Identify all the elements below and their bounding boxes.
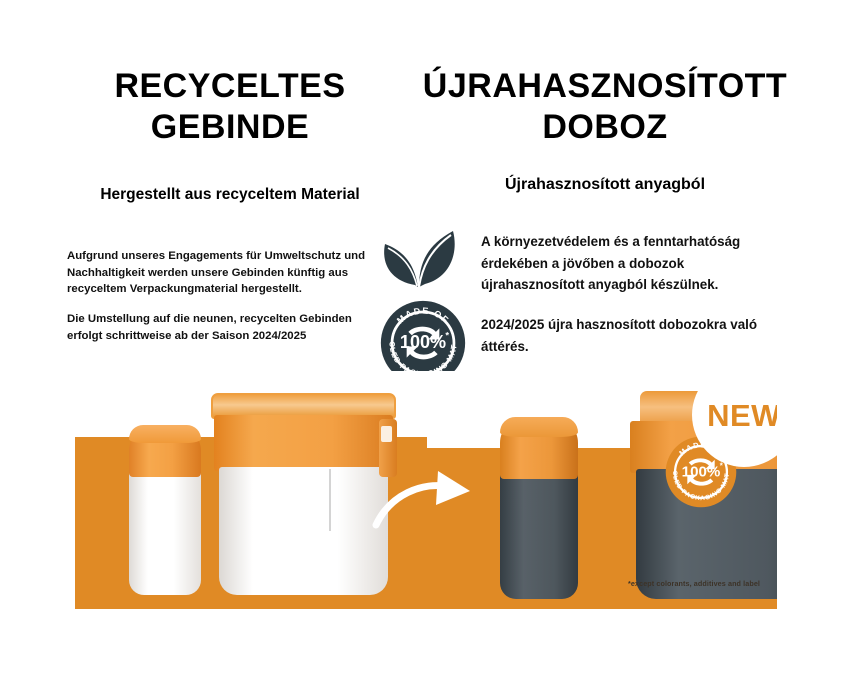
white-box-seam bbox=[329, 469, 331, 531]
left-heading-line2: GEBINDE bbox=[60, 107, 400, 148]
right-paragraph-2: 2024/2025 újra hasznosított dobozokra va… bbox=[481, 314, 771, 357]
white-bottle-product bbox=[129, 425, 201, 595]
leaf-icon bbox=[381, 226, 459, 288]
badge-asterisk: * bbox=[445, 331, 449, 342]
left-paragraph-2: Die Umstellung auf die neunen, recycelte… bbox=[67, 311, 369, 344]
right-heading-line2: DOBOZ bbox=[412, 107, 798, 148]
dark-bottle-product bbox=[500, 417, 578, 599]
white-box-handle-slot bbox=[381, 426, 392, 442]
left-paragraph-1: Aufgrund unseres Engagements für Umwelts… bbox=[67, 248, 369, 298]
left-subtitle: Hergestellt aus recyceltem Material bbox=[60, 186, 400, 204]
dark-bottle-body bbox=[500, 465, 578, 599]
right-body-text: A környezetvédelem és a fenntarhatóság é… bbox=[481, 231, 771, 376]
curved-arrow-icon bbox=[370, 469, 480, 531]
left-heading-line1: RECYCELTES bbox=[60, 66, 400, 107]
new-badge-label: NEW bbox=[707, 400, 777, 431]
white-box-product bbox=[211, 393, 396, 595]
white-box-tub bbox=[219, 467, 388, 595]
right-paragraph-1: A környezetvédelem és a fenntarhatóság é… bbox=[481, 231, 771, 296]
badge-center-text: 100% bbox=[682, 463, 721, 480]
left-heading: RECYCELTES GEBINDE bbox=[60, 66, 400, 149]
right-subtitle: Újrahasznosított anyagból bbox=[412, 176, 798, 194]
poster-canvas: RECYCELTES GEBINDE Hergestellt aus recyc… bbox=[0, 0, 850, 697]
left-body-text: Aufgrund unseres Engagements für Umwelts… bbox=[67, 248, 369, 357]
right-heading: ÚJRAHASZNOSÍTOTT DOBOZ bbox=[412, 66, 798, 149]
photo-footnote: *except colorants, additives and label bbox=[628, 579, 777, 588]
white-bottle-cap bbox=[129, 425, 201, 477]
white-bottle-body bbox=[129, 458, 201, 595]
white-box-collar bbox=[214, 415, 393, 471]
dark-bottle-cap bbox=[500, 417, 578, 479]
right-heading-line1: ÚJRAHASZNOSÍTOTT bbox=[412, 66, 798, 107]
product-photo-panel: MADE OF RECYCLED PACKAGING MATERIAL 100%… bbox=[75, 371, 777, 609]
badge-center-text: 100% bbox=[400, 332, 446, 352]
